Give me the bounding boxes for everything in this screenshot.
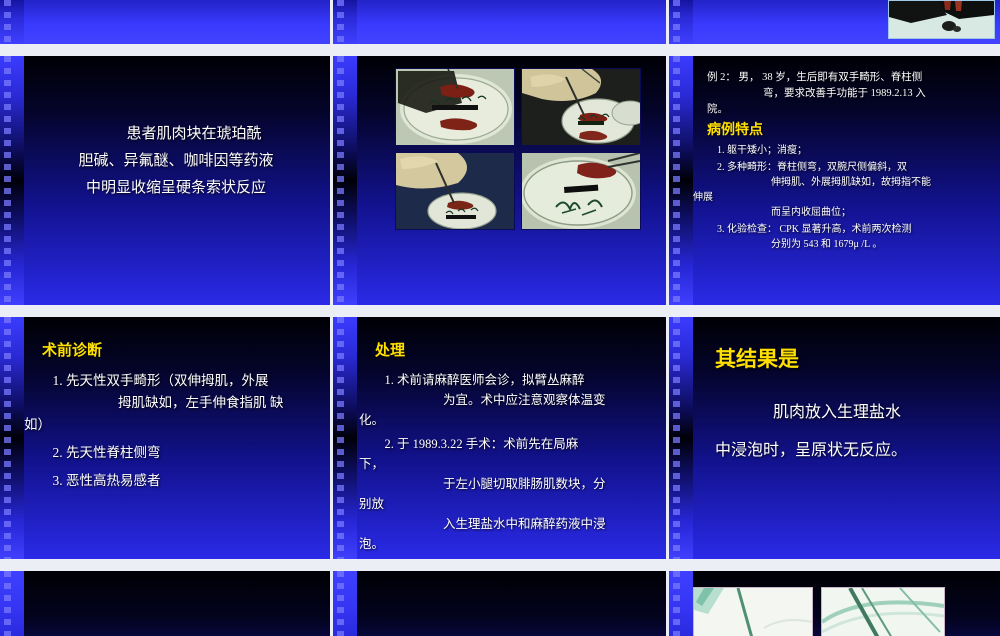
diagnosis-list: 先天性双手畸形（双伸拇肌，外展 拇肌缺如，左手伸食指肌 缺 如） 先天性脊柱侧弯… [42,370,320,492]
result-line-1: 肌肉放入生理盐水 [715,401,993,425]
slide-left-band [0,0,24,44]
slide-background [333,571,666,636]
item-cont: 入生理盐水中和麻醉药液中浸 [397,514,658,534]
item-cont: 化。 [359,410,658,430]
list-item: 先天性双手畸形（双伸拇肌，外展 拇肌缺如，左手伸食指肌 缺 如） [66,370,320,436]
slide-left-band [0,571,24,636]
slide-thumbnail-prev-2[interactable] [333,0,666,44]
case-lead-line-3: 院。 [707,104,728,115]
slide-content: 术前诊断 先天性双手畸形（双伸拇肌，外展 拇肌缺如，左手伸食指肌 缺 如） 先天… [24,317,330,559]
item-text: 恶性高热易感者 [66,473,161,488]
treatment-list: 术前请麻醉医师会诊，拟臂丛麻醉 为宜。术中应注意观察体温变 化。 于 1989.… [375,370,658,554]
photo-petri-dish-two-strips [395,68,515,146]
item-cont: 下， [359,454,658,474]
treatment-heading: 处理 [375,339,658,360]
band-dots-icon [337,571,344,636]
slide-left-band [333,571,357,636]
band-dots-icon [673,317,680,559]
band-dots-icon [4,571,11,636]
item-text: 术前请麻醉医师会诊，拟臂丛麻醉 [397,373,585,387]
result-line-2: 中浸泡时，呈原状无反应。 [715,439,993,463]
photo-hand-placing-sample [395,152,515,230]
item-cont: 泡。 [359,534,658,554]
case-lead-line-2: 弯，要求改善手功能于 1989.2.13 入 [707,86,995,102]
slide-background [0,571,330,636]
list-item: 化验检查： CPK 显著升高，术前两次检测 分别为 543 和 1679μ /L… [727,222,995,252]
slide-content: 患者肌肉块在琥珀酰 胆碱、异氟醚、咖啡因等药液 中明显收缩呈硬条索状反应 [24,56,330,305]
slide-content: 处理 术前请麻醉医师会诊，拟臂丛麻醉 为宜。术中应注意观察体温变 化。 于 19… [357,317,666,559]
photo-hand-forceps-dish [521,68,641,146]
diagnosis-heading: 术前诊断 [42,339,320,360]
slide-thumbnail-result[interactable]: 其结果是 肌肉放入生理盐水 中浸泡时，呈原状无反应。 [669,317,1000,559]
item-cont: 伸拇肌、外展拇肌缺如，故拇指不能 [727,175,995,190]
slide-thumbnail-grid: 患者肌肉块在琥珀酰 胆碱、异氟醚、咖啡因等药液 中明显收缩呈硬条索状反应 [0,0,1000,600]
item-cont: 拇肌缺如，左手伸食指肌 缺 [66,392,320,414]
surgical-photo-thumbnail [888,0,995,39]
slide-left-band [333,56,357,305]
band-dots-icon [337,0,344,44]
slide-thumbnail-next-3[interactable] [669,571,1000,636]
slide-content [357,56,666,305]
item-cont: 伸展 [693,190,995,205]
band-dots-icon [4,0,11,44]
slide-content: 例 2： 男， 38 岁，生后即有双手畸形、脊柱侧 弯，要求改善手功能于 198… [693,56,1000,305]
band-dots-icon [673,56,680,305]
slide-left-band [669,0,693,44]
band-dots-icon [4,317,11,559]
item-text: 于 1989.3.22 手术：术前先在局麻 [397,437,578,451]
item-cont: 为宜。术中应注意观察体温变 [397,390,658,410]
case-feature-list: 躯干矮小；消瘦； 多种畸形：脊柱侧弯，双腕尺侧偏斜，双 伸拇肌、外展拇肌缺如，故… [707,143,995,252]
slide-background [0,0,330,44]
slide-left-band [0,56,24,305]
slide-left-band [669,571,693,636]
slide-left-band [0,317,24,559]
item-cont: 而呈内收屈曲位； [727,205,995,220]
specimen-photo-thumbnail-a [693,587,813,636]
item-text: 多种畸形：脊柱侧弯，双腕尺侧偏斜，双 [727,162,907,173]
list-item: 术前请麻醉医师会诊，拟臂丛麻醉 为宜。术中应注意观察体温变 化。 [397,370,658,430]
band-dots-icon [4,56,11,305]
slide-thumbnail-case-two[interactable]: 例 2： 男， 38 岁，生后即有双手畸形、脊柱侧 弯，要求改善手功能于 198… [669,56,1000,305]
slide-thumbnail-next-2[interactable] [333,571,666,636]
muscle-line-3: 中明显收缩呈硬条索状反应 [36,178,316,198]
slide-thumbnail-treatment[interactable]: 处理 术前请麻醉医师会诊，拟臂丛麻醉 为宜。术中应注意观察体温变 化。 于 19… [333,317,666,559]
slide-thumbnail-next-1[interactable] [0,571,330,636]
list-item: 躯干矮小；消瘦； [727,143,995,158]
slide-background [333,0,666,44]
item-cont: 分别为 543 和 1679μ /L 。 [727,237,995,252]
case-lead: 例 2： 男， 38 岁，生后即有双手畸形、脊柱侧 弯，要求改善手功能于 198… [707,70,995,118]
photo-petri-dish-labeled [521,152,641,230]
item-text: 躯干矮小；消瘦； [727,145,807,156]
list-item: 恶性高热易感者 [66,470,320,492]
item-text: 先天性脊柱侧弯 [66,445,161,460]
case-lead-line-1: 例 2： 男， 38 岁，生后即有双手畸形、脊柱侧 [707,72,922,83]
muscle-line-2: 胆碱、异氟醚、咖啡因等药液 [36,151,316,171]
muscle-line-1: 患者肌肉块在琥珀酰 [36,124,316,144]
list-item: 多种畸形：脊柱侧弯，双腕尺侧偏斜，双 伸拇肌、外展拇肌缺如，故拇指不能 伸展 而… [727,160,995,220]
band-dots-icon [337,56,344,305]
band-dots-icon [673,0,680,44]
specimen-photo-thumbnail-b [821,587,945,636]
band-dots-icon [337,317,344,559]
item-text: 先天性双手畸形（双伸拇肌，外展 [66,373,269,388]
item-cont: 别放 [359,494,658,514]
slide-left-band [669,317,693,559]
slide-left-band [333,317,357,559]
result-heading: 其结果是 [715,343,993,373]
slide-content: 其结果是 肌肉放入生理盐水 中浸泡时，呈原状无反应。 [693,317,1000,559]
slide-thumbnail-photo-grid[interactable] [333,56,666,305]
slide-thumbnail-prev-3[interactable] [669,0,1000,44]
slide-thumbnail-prev-1[interactable] [0,0,330,44]
item-cont: 如） [24,414,320,436]
list-item: 于 1989.3.22 手术：术前先在局麻 下， 于左小腿切取腓肠肌数块，分 别… [397,434,658,554]
photo-grid [395,68,639,228]
slide-left-band [669,56,693,305]
item-cont: 于左小腿切取腓肠肌数块，分 [397,474,658,494]
item-text: 化验检查： CPK 显著升高，术前两次检测 [727,224,911,235]
list-item: 先天性脊柱侧弯 [66,442,320,464]
band-dots-icon [673,571,680,636]
case-heading: 病例特点 [707,122,995,140]
slide-left-band [333,0,357,44]
slide-thumbnail-muscle-reaction[interactable]: 患者肌肉块在琥珀酰 胆碱、异氟醚、咖啡因等药液 中明显收缩呈硬条索状反应 [0,56,330,305]
slide-thumbnail-preop-diagnosis[interactable]: 术前诊断 先天性双手畸形（双伸拇肌，外展 拇肌缺如，左手伸食指肌 缺 如） 先天… [0,317,330,559]
